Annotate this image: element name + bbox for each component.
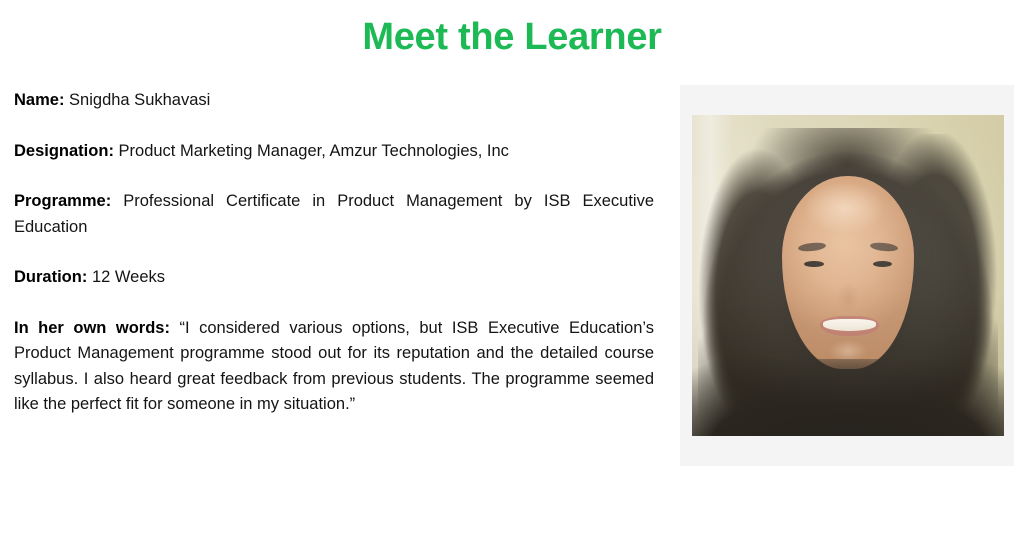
detail-designation-label: Designation [14,142,108,160]
page-title: Meet the Learner [0,14,1024,60]
detail-duration-separator: : [82,268,92,286]
detail-duration: Duration: 12 Weeks [14,265,654,291]
detail-designation: Designation: Product Marketing Manager, … [14,139,654,165]
detail-duration-label: Duration [14,268,82,286]
learner-details-column: Name: Snigdha Sukhavasi Designation: Pro… [14,88,654,418]
detail-programme-label: Programme: [14,192,111,210]
detail-name: Name: Snigdha Sukhavasi [14,88,654,114]
detail-duration-value: 12 Weeks [92,268,165,286]
learner-quote-separator [170,319,180,337]
learner-photo [692,115,1004,436]
learner-quote-label: In her own words: [14,319,170,337]
detail-programme: Programme: Professional Certificate in P… [14,189,654,240]
detail-designation-separator: : [108,142,118,160]
detail-designation-value: Product Marketing Manager, Amzur Technol… [119,142,509,160]
detail-programme-separator [111,192,123,210]
detail-name-value: Snigdha Sukhavasi [69,91,210,109]
photo-frame [680,85,1014,466]
photo-vignette [692,115,1004,436]
detail-name-label: Name [14,91,59,109]
detail-name-separator: : [59,91,69,109]
learner-quote: In her own words: “I considered various … [14,316,654,418]
